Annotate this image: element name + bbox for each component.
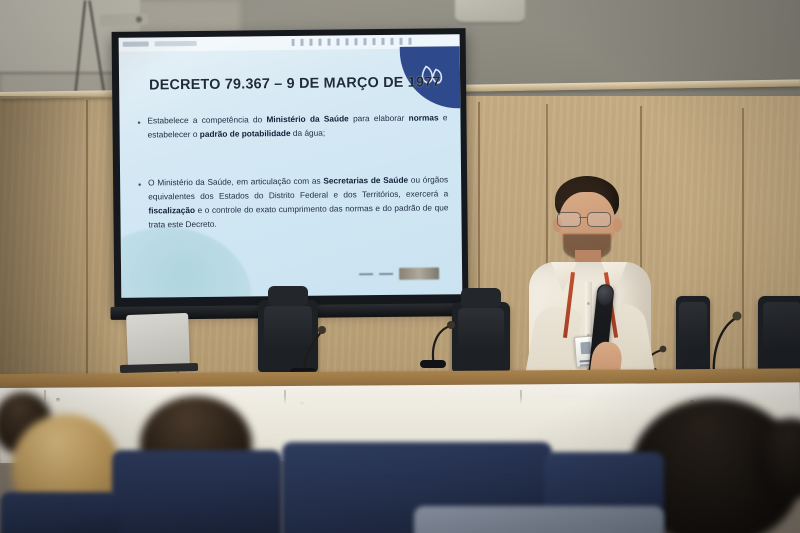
table-microphone-2: [420, 310, 460, 368]
laptop-screen: [126, 313, 190, 367]
slide-bullet-1-text: Estabelece a competência do Ministério d…: [147, 112, 447, 139]
desk-chair-4: [758, 296, 800, 376]
mic-base-2: [420, 360, 446, 368]
desk-chair-2-headrest: [461, 288, 501, 308]
mic-gooseneck-3: [700, 300, 746, 378]
projection-screen: DECRETO 79.367 – 9 DE MARÇO DE 1977 • Es…: [112, 28, 469, 310]
table-microphone-3: [700, 300, 740, 378]
slide-bullet-2: • O Ministério da Saúde, em articulação …: [148, 172, 449, 231]
slide-surface: DECRETO 79.367 – 9 DE MARÇO DE 1977 • Es…: [119, 34, 463, 298]
auditorium-presentation-photo: DECRETO 79.367 – 9 DE MARÇO DE 1977 • Es…: [0, 0, 800, 533]
audience-chair-4: [0, 492, 120, 533]
bullet-marker-1: •: [137, 116, 140, 130]
glasses-bridge: [579, 217, 587, 218]
footer-logo-icon-2: [399, 267, 439, 279]
desk-chair-1-headrest: [268, 286, 308, 306]
slide-decorative-arc: [119, 226, 252, 297]
footer-logo-divider: [379, 272, 393, 274]
toolbar-dots: [292, 38, 412, 46]
glasses-lens-left: [557, 212, 581, 227]
footer-logo-icon-1: [359, 273, 373, 275]
glasses-icon: [557, 212, 617, 226]
slide-footer-logos: [359, 265, 455, 281]
projector-screen-mount: [100, 13, 148, 27]
glasses-lens-right: [587, 212, 611, 227]
bullet-marker-2: •: [138, 178, 141, 192]
desk-chair-2: [452, 302, 510, 372]
audience-chair-5: [414, 506, 664, 533]
shirt-button-1: [587, 302, 590, 305]
table-microphone-1: [290, 318, 330, 376]
slide-bullet-2-text: O Ministério da Saúde, em articulação co…: [148, 174, 448, 229]
ceiling-soffit-right: [455, 0, 525, 24]
audience-chair-1: [112, 450, 282, 533]
slide-bullet-1: • Estabelece a competência do Ministério…: [147, 110, 447, 141]
slide-title: DECRETO 79.367 – 9 DE MARÇO DE 1977: [149, 75, 419, 94]
